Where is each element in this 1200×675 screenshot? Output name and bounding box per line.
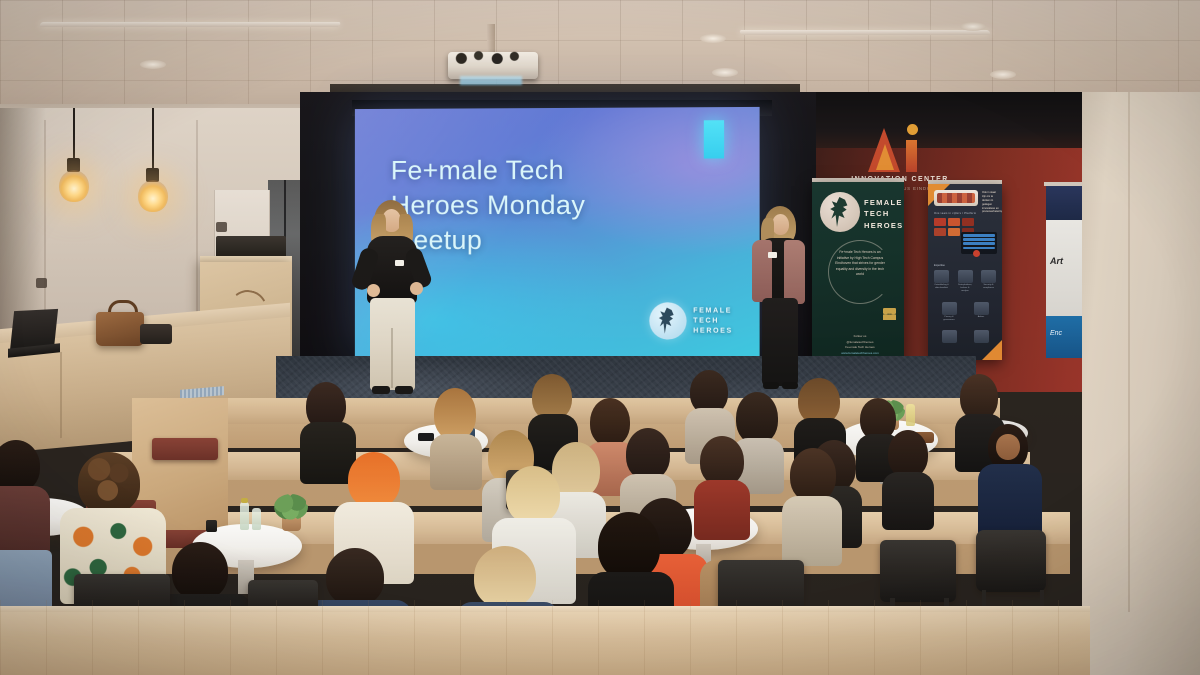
chair-back <box>976 530 1046 592</box>
slide-logo-line-1: FEMALE <box>693 306 733 316</box>
banner-logo-line-3: HEROES <box>864 220 903 231</box>
audience-hair <box>736 392 778 444</box>
audience-torso-navy-blazer <box>978 464 1042 540</box>
water-bottle <box>252 508 261 530</box>
ai-innovation-center-logo-icon <box>866 122 930 174</box>
banner-logo-line-1: FEMALE <box>864 197 903 208</box>
gear-icon <box>934 270 949 283</box>
ai-logo-i-dot <box>907 124 918 135</box>
trouser-seam <box>391 328 393 388</box>
poster-tile <box>934 228 946 236</box>
audience-hair <box>790 448 836 502</box>
bottle-cap <box>241 498 248 503</box>
presenter-hand-right <box>410 282 423 295</box>
ceiling-downlight <box>140 60 166 69</box>
audience-torso <box>782 496 842 566</box>
audience-hair <box>326 548 384 606</box>
poster-tile <box>962 218 974 226</box>
poster-tile <box>948 218 960 226</box>
pictogram-caption: Privacy & governance <box>941 316 958 322</box>
travel-mug <box>206 520 217 532</box>
water-bottle <box>240 502 249 530</box>
poster-table-row <box>963 238 995 241</box>
name-badge <box>395 260 404 266</box>
poster-pictogram <box>973 330 990 344</box>
pendant-cord <box>73 108 75 160</box>
presenter-shoe <box>372 386 390 394</box>
database-icon <box>958 270 973 283</box>
poster-table-row <box>963 247 995 250</box>
event-photo-scene: Fe+male Tech Heroes Monday Meetup FEMALE… <box>0 0 1200 675</box>
poster-logo-mark-icon <box>937 193 975 203</box>
banner-logo-line-2: TECH <box>864 208 903 219</box>
poster-table-row <box>963 242 995 245</box>
pendant-cord <box>152 108 154 170</box>
cloud-icon <box>974 330 989 343</box>
presenter-face <box>772 214 789 235</box>
foreground-column <box>1082 92 1200 675</box>
presenter-hand-left <box>367 284 380 297</box>
information-poster: Ook in staat zijn om te denken in gedege… <box>928 184 1002 360</box>
slide-title: Fe+male Tech Heroes Monday Meetup <box>391 153 690 259</box>
poster-pictogram-row: Ontwikkeling & data-kwaliteit Data-platf… <box>933 270 997 293</box>
slide-title-line-1: Fe+male Tech <box>391 153 690 189</box>
light-switch[interactable] <box>36 278 47 288</box>
audience-torso <box>882 472 934 530</box>
pendant-bulb <box>59 170 89 202</box>
presenter-trousers <box>762 298 798 386</box>
audience-torso <box>430 434 482 490</box>
ceiling-slot-light <box>39 22 341 27</box>
poster-tile <box>948 228 960 236</box>
slide-logo-line-2: TECH <box>693 316 733 326</box>
pictogram-caption: Ontwikkeling & data-kwaliteit <box>933 284 950 290</box>
audience-hair <box>598 512 660 580</box>
pendant-bulb <box>138 180 168 212</box>
pictogram-caption: Advies <box>973 316 990 319</box>
poster-table-row <box>963 234 995 237</box>
white-banner-text: Art <box>1050 256 1063 266</box>
slide-title-line-3: Meetup <box>391 223 690 258</box>
female-tech-heroes-banner: FEMALE TECH HEROES Fe+male Tech Heroes i… <box>812 182 904 366</box>
audience-hair <box>172 542 228 600</box>
chair-back <box>880 540 956 602</box>
shield-icon <box>981 270 996 283</box>
seat-cushion <box>152 438 218 460</box>
poster-tile <box>934 218 946 226</box>
poster-pictogram: Ontwikkeling & data-kwaliteit <box>933 270 950 293</box>
phone-on-table <box>418 433 434 441</box>
audience-hair <box>590 398 630 446</box>
light-switch[interactable] <box>216 222 227 232</box>
slide-title-line-2: Heroes Monday <box>391 188 690 223</box>
audience-hair <box>626 428 670 480</box>
pictogram-caption: Data-platform, beheer & analyse <box>957 284 974 293</box>
ceiling-downlight <box>990 70 1016 79</box>
projector-lens-glow <box>460 76 522 85</box>
audience-hair-orange <box>348 452 400 508</box>
audience-face <box>996 434 1020 460</box>
female-tech-heroes-emblem-icon <box>820 192 860 232</box>
person-icon <box>974 302 989 315</box>
audience-hair-blonde <box>474 546 536 608</box>
wood-grain-texture <box>0 600 1090 675</box>
poster-section2-label: Expertise <box>934 264 945 267</box>
presenter-shoe <box>395 386 413 394</box>
poster-pictogram-row: Privacy & governance Advies <box>933 302 997 322</box>
presenter-blazer-left <box>752 240 772 302</box>
slide-cyan-accent <box>704 120 724 158</box>
audience-hair <box>700 436 744 486</box>
poster-headline: Ook in staat zijn om te denken in gedege… <box>982 191 1000 214</box>
presenter-blazer-right <box>784 240 805 304</box>
slide-logo-line-3: HEROES <box>693 326 733 336</box>
plant-leaves <box>274 494 308 520</box>
poster-pictogram: Data-platform, beheer & analyse <box>957 270 974 293</box>
presenter-shoe <box>763 382 779 389</box>
banner-body-text: Fe+male Tech Heroes is an initiative by … <box>834 250 886 278</box>
audience-hair-blonde <box>506 466 560 524</box>
presenter-shoe <box>782 382 798 389</box>
blue-banner-text: Enc <box>1050 330 1062 337</box>
small-dark-bag <box>140 324 172 344</box>
poster-pictogram: Security & compliance <box>980 270 997 293</box>
leather-bag <box>96 312 144 346</box>
poster-pictogram-row <box>933 330 997 344</box>
poster-pictogram <box>941 330 958 344</box>
audience-torso <box>694 480 750 540</box>
poster-pictogram: Privacy & governance <box>941 302 958 322</box>
audience-hair <box>434 388 476 440</box>
audience-hair <box>888 430 928 478</box>
poster-section-label: Ons team in cijfers / Platform <box>934 212 976 215</box>
presenter-right <box>752 206 812 396</box>
banner-wordmark: FEMALE TECH HEROES <box>864 197 903 231</box>
slide-logo: FEMALE TECH HEROES <box>649 303 733 341</box>
chart-icon <box>942 330 957 343</box>
drink-bottle <box>906 404 915 426</box>
female-tech-heroes-emblem-icon <box>649 303 686 340</box>
pictogram-caption: Security & compliance <box>980 284 997 290</box>
ceiling-downlight <box>960 22 986 31</box>
counter-seam <box>60 352 62 438</box>
column-seam <box>1128 92 1130 612</box>
ceiling-slot-light <box>739 30 991 35</box>
slide-logo-wordmark: FEMALE TECH HEROES <box>693 306 733 336</box>
projector-cables <box>452 50 530 64</box>
poster-red-dot <box>973 250 980 257</box>
banner-people-icon <box>883 308 896 320</box>
ai-logo-a-inner <box>876 144 894 170</box>
presenter-left <box>358 200 428 400</box>
ceiling-downlight <box>700 34 726 43</box>
audience-hair-curly <box>78 452 140 514</box>
poster-pictogram: Advies <box>973 302 990 322</box>
banner-social-block: Follow us @femaletechheroes Fe+male Tech… <box>834 334 886 356</box>
lock-icon <box>942 302 957 315</box>
ceiling-downlight <box>712 68 738 77</box>
ai-logo-i-stem <box>906 140 917 172</box>
name-badge <box>768 252 777 258</box>
